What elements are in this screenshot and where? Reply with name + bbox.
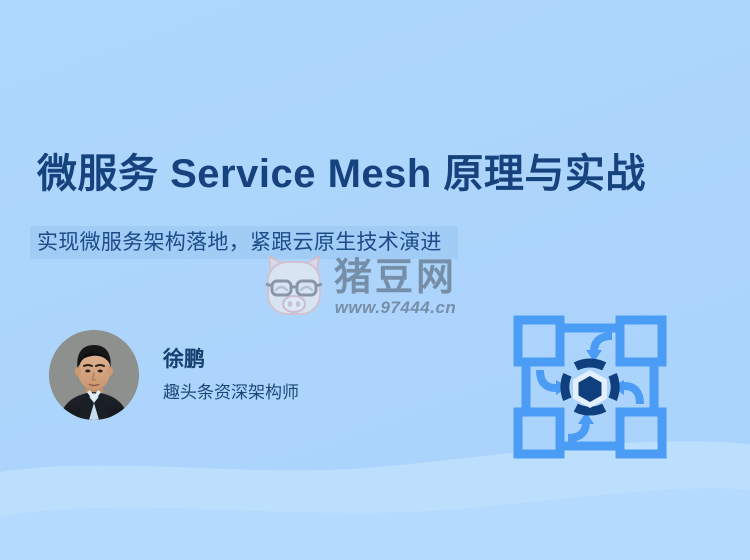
avatar bbox=[49, 330, 139, 420]
title-block: 微服务 Service Mesh 原理与实战 bbox=[37, 148, 727, 200]
speaker-name: 徐鹏 bbox=[163, 345, 299, 375]
speaker-role: 趣头条资深架构师 bbox=[163, 381, 299, 405]
watermark: 猪豆网 www.97444.cn bbox=[258, 252, 457, 324]
pig-mascot-icon bbox=[258, 252, 330, 324]
speaker-info: 徐鹏 趣头条资深架构师 bbox=[163, 345, 299, 405]
speaker-block: 徐鹏 趣头条资深架构师 bbox=[49, 330, 299, 420]
watermark-site-name: 猪豆网 bbox=[334, 258, 457, 298]
watermark-url: www.97444.cn bbox=[335, 298, 457, 318]
subtitle-highlight-band: 实现微服务架构落地，紧跟云原生技术演进 bbox=[30, 226, 458, 259]
page-title: 微服务 Service Mesh 原理与实战 bbox=[37, 148, 727, 200]
page-subtitle: 实现微服务架构落地，紧跟云原生技术演进 bbox=[37, 229, 442, 257]
service-mesh-icon bbox=[512, 314, 668, 460]
course-cover-poster: 微服务 Service Mesh 原理与实战 实现微服务架构落地，紧跟云原生技术… bbox=[0, 0, 750, 560]
watermark-text: 猪豆网 www.97444.cn bbox=[334, 258, 457, 318]
